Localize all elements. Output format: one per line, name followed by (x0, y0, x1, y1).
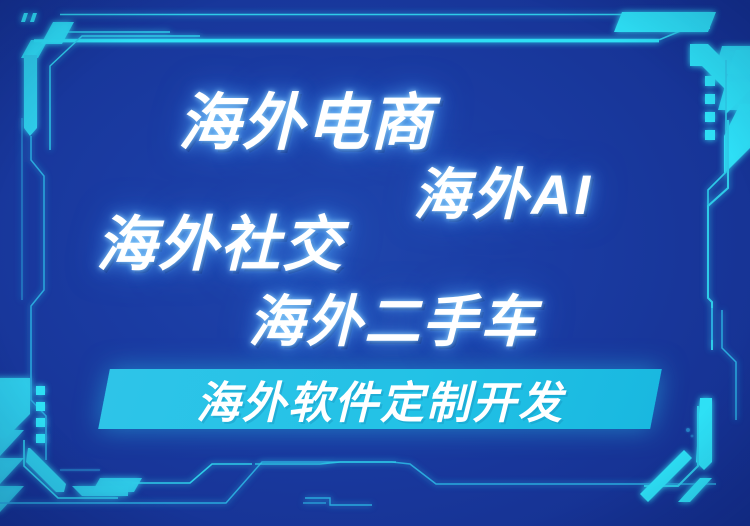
headline-overseas-social: 海外社交 (96, 196, 344, 283)
bottom-left-corner-bracket (24, 440, 128, 498)
top-edge-rules (34, 12, 716, 41)
right-edge-circuit-trace (708, 120, 736, 420)
hairline-details (60, 428, 693, 470)
headline-overseas-ecommerce: 海外电商 (178, 72, 434, 162)
cta-banner-label: 海外软件定制开发 (104, 369, 656, 429)
left-edge-circuit-trace (22, 118, 46, 460)
bottom-edge-circuit-lines (0, 462, 716, 505)
promo-poster: 海外电商 海外AI 海外社交 海外二手车 海外软件定制开发 (0, 0, 750, 526)
top-right-corner-bracket (690, 38, 750, 230)
top-left-corner-bracket (21, 13, 200, 150)
right-edge-dot-column (705, 76, 715, 140)
headline-overseas-ai: 海外AI (413, 150, 593, 231)
top-right-diagonal-bars (684, 46, 750, 182)
headline-overseas-used-car: 海外二手车 (248, 277, 538, 358)
bottom-left-diagonal-bars (0, 378, 30, 512)
bottom-left-dot-column (36, 386, 45, 443)
